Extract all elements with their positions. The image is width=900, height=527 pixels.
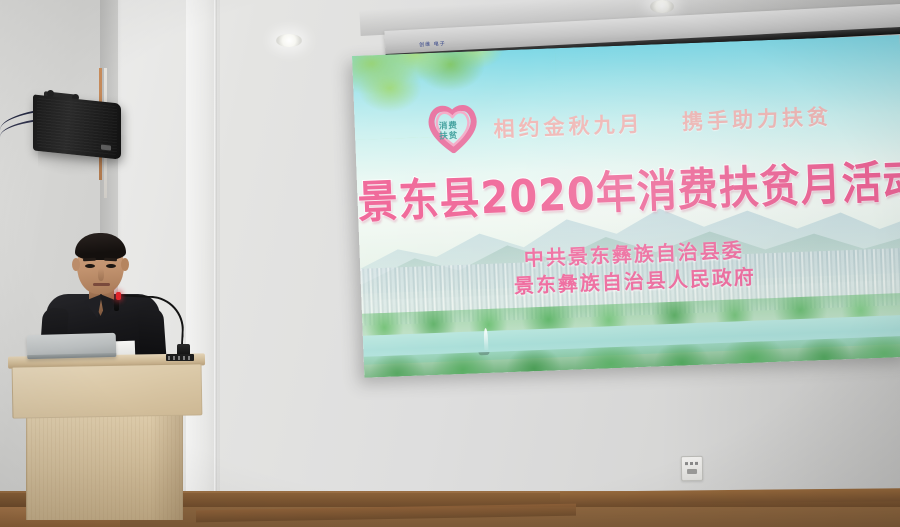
presenter-mouth xyxy=(93,283,110,286)
presenter-eyebrow-right xyxy=(104,258,117,262)
presenter-ear-left xyxy=(72,258,80,271)
lectern-front-panel xyxy=(12,363,203,418)
slide-main-title: 景东县2020年消费扶贫月活动启动仪式 xyxy=(356,146,900,232)
conference-room-photo: 创维 电子 xyxy=(0,0,900,527)
heart-icon: 消费 扶贫 xyxy=(425,100,481,154)
wall-mounted-loudspeaker xyxy=(33,94,121,159)
ceiling-downlight-icon xyxy=(276,34,302,47)
projection-screen: 消费 扶贫 相约金秋九月 携手助力扶贫 景东县2020年消费扶贫月活动启动仪式 … xyxy=(352,35,900,378)
slide-tagline-row: 消费 扶贫 相约金秋九月 携手助力扶贫 xyxy=(354,90,900,157)
outlet-bottom-socket xyxy=(687,469,697,474)
wall-power-outlet[interactable] xyxy=(681,456,703,481)
presenter-nose xyxy=(98,268,104,281)
presenter-hair xyxy=(75,233,126,260)
projected-slide: 消费 扶贫 相约金秋九月 携手助力扶贫 景东县2020年消费扶贫月活动启动仪式 … xyxy=(352,35,900,378)
lectern-body-shadow xyxy=(150,408,182,520)
slide-tagline-right: 携手助力扶贫 xyxy=(682,104,833,134)
tagline-spacer xyxy=(655,130,671,131)
slide-organizations: 中共景东彝族自治县委 景东彝族自治县人民政府 xyxy=(360,231,900,306)
presenter-eye-left xyxy=(85,264,95,268)
microphone-head xyxy=(114,299,119,311)
heart-label-line2: 扶贫 xyxy=(433,130,465,141)
outlet-top-slots xyxy=(685,462,699,465)
heart-icon-label: 消费 扶贫 xyxy=(432,120,465,141)
slide-tagline-left: 相约金秋九月 xyxy=(493,112,644,142)
speaker-badge xyxy=(101,145,111,151)
presenter-ear-right xyxy=(121,258,129,271)
wall-pilaster-edge xyxy=(214,0,217,527)
roller-brand-logo: 创维 电子 xyxy=(419,40,446,48)
presenter-eye-right xyxy=(106,264,116,268)
slide-tagline: 相约金秋九月 携手助力扶贫 xyxy=(493,100,833,143)
podium-control-buttons[interactable] xyxy=(168,356,192,360)
slide-content: 消费 扶贫 相约金秋九月 携手助力扶贫 景东县2020年消费扶贫月活动启动仪式 … xyxy=(352,35,900,378)
podium-control-panel[interactable] xyxy=(166,354,194,361)
laptop-computer[interactable] xyxy=(27,333,117,359)
microphone-led-indicator xyxy=(116,292,121,300)
